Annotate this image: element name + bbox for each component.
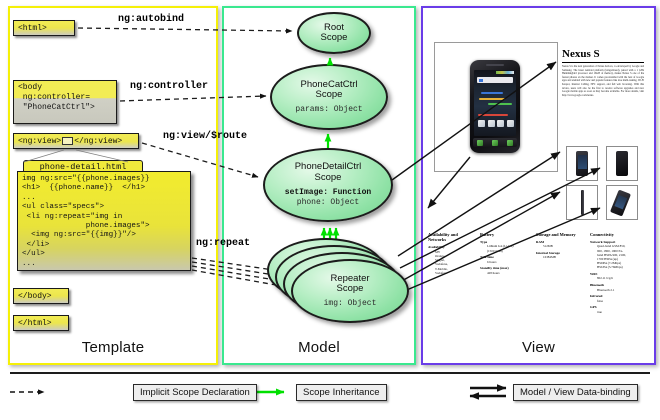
phone-speaker xyxy=(486,64,504,66)
specs-table: Availability and Networks Availability M… xyxy=(428,232,644,318)
phone-dock-icon xyxy=(477,140,483,146)
ngview-open-text: <ng:view> xyxy=(18,137,61,146)
phone-app-icon xyxy=(497,120,504,127)
phone-app-icon xyxy=(478,120,485,127)
phone-edge-thumb[interactable] xyxy=(566,185,598,220)
code-tag-html-close: </html> xyxy=(13,315,69,331)
phone-statusbar xyxy=(496,71,514,74)
phone-content-line-3 xyxy=(488,103,512,105)
legend-label-scope-inheritance: Scope Inheritance xyxy=(296,384,387,401)
phone-screen xyxy=(474,70,516,136)
thumb-art xyxy=(581,190,584,215)
callout-code: img ng:src="{{phone.images}} <h1> {{phon… xyxy=(17,171,191,271)
phone-angle-thumb[interactable] xyxy=(606,185,638,220)
thumb-art xyxy=(576,151,588,176)
scope-phonedetailctrl[interactable]: PhoneDetailCtrl Scope setImage: Function… xyxy=(263,148,393,222)
legend-label-data-binding: Model / View Data-binding xyxy=(513,384,638,401)
spec-header: Availability and Networks xyxy=(428,232,476,243)
spec-value: 16384MB xyxy=(536,255,588,259)
phone-dock-icon xyxy=(492,140,498,146)
scope-phonecatctrl-name: PhoneCatCtrl Scope xyxy=(300,80,357,101)
spec-column-connectivity: Connectivity Network Support Quad-band G… xyxy=(590,232,644,314)
product-title-rule xyxy=(562,62,644,63)
legend-label-implicit-declaration: Implicit Scope Declaration xyxy=(133,384,257,401)
scope-repeater-prop-img: img: Object xyxy=(324,299,377,309)
scope-repeater[interactable]: Repeater Scope img: Object xyxy=(291,259,409,323)
spec-value: 428 hours xyxy=(480,271,532,275)
thumb-art xyxy=(610,189,631,216)
phone-dock xyxy=(473,138,517,147)
label-ng-repeat: ng:repeat xyxy=(196,238,250,249)
phone-back-thumb[interactable] xyxy=(606,146,638,181)
phone-app-icon xyxy=(507,120,514,127)
scope-phonedetailctrl-name: PhoneDetailCtrl Scope xyxy=(295,162,362,183)
label-ng-view-route: ng:view/$route xyxy=(163,131,247,142)
phone-hero-image xyxy=(470,60,520,153)
spec-value: 512MB xyxy=(536,244,588,248)
spec-value: (1500 mAh) xyxy=(480,249,532,253)
spec-value: true xyxy=(590,310,644,314)
phone-urlbar xyxy=(477,77,513,83)
scope-repeater-name: Repeater Scope xyxy=(330,274,369,295)
phone-content-line-2 xyxy=(479,98,505,100)
scope-phonecatctrl-prop-params: params: Object xyxy=(295,105,362,115)
spec-header: Storage and Memory xyxy=(536,232,588,237)
code-tag-html: <html> xyxy=(13,20,75,36)
scope-root[interactable]: Root Scope xyxy=(297,12,371,54)
spec-column-availability: Availability and Networks Availability M… xyxy=(428,232,476,275)
scope-root-name: Root Scope xyxy=(321,23,348,44)
scope-phonedetailctrl-prop-phone: phone: Object xyxy=(297,198,359,208)
phone-front-thumb[interactable] xyxy=(566,146,598,181)
phone-dock-icon xyxy=(507,140,513,146)
label-ng-controller: ng:controller xyxy=(130,81,208,92)
code-tag-body-close: </body> xyxy=(13,288,69,304)
label-ng-autobind: ng:autobind xyxy=(118,14,184,25)
panel-label-model: Model xyxy=(222,339,416,356)
ngview-placeholder-rect xyxy=(62,137,73,145)
spec-value: Bluetooth 2.1 xyxy=(590,288,644,292)
ngview-close-text: </ng:view> xyxy=(74,137,122,146)
phone-app-icon xyxy=(488,120,495,127)
spec-value: Vodafone xyxy=(428,271,476,275)
phone-content-line-4 xyxy=(478,114,508,116)
spec-value: false xyxy=(590,299,644,303)
spec-value: 802.11 b/g/n xyxy=(590,276,644,280)
phone-detail-callout: phone-detail.html img ng:src="{{phone.im… xyxy=(17,160,193,278)
thumb-art xyxy=(616,151,628,176)
code-tag-body: <body ng:controller= "PhoneCatCtrl"> xyxy=(13,80,117,124)
panel-label-view: View xyxy=(421,339,656,356)
product-description: Nexus S is the next generation of Nexus … xyxy=(562,65,644,127)
spec-value: 6 hours xyxy=(480,260,532,264)
diagram-canvas: <html> <body ng:controller= "PhoneCatCtr… xyxy=(0,0,660,420)
phone-app-icons xyxy=(478,120,514,130)
spec-value: HSUPA (5.76Mbps) xyxy=(590,265,644,269)
panel-label-template: Template xyxy=(8,339,218,356)
spec-header: Battery xyxy=(480,232,532,237)
scope-phonecatctrl[interactable]: PhoneCatCtrl Scope params: Object xyxy=(270,64,388,130)
phone-content-line-1 xyxy=(481,92,503,94)
spec-column-battery: Battery Type Lithium Ion (Li-Ion) (1500 … xyxy=(480,232,532,275)
spec-header: Connectivity xyxy=(590,232,644,237)
legend-divider xyxy=(10,372,650,374)
scope-phonedetailctrl-prop-setimage: setImage: Function xyxy=(285,188,371,198)
spec-column-storage: Storage and Memory RAM 512MB Internal St… xyxy=(536,232,588,260)
code-tag-ngview: <ng:view></ng:view> xyxy=(13,133,139,149)
product-title: Nexus S xyxy=(562,48,646,60)
